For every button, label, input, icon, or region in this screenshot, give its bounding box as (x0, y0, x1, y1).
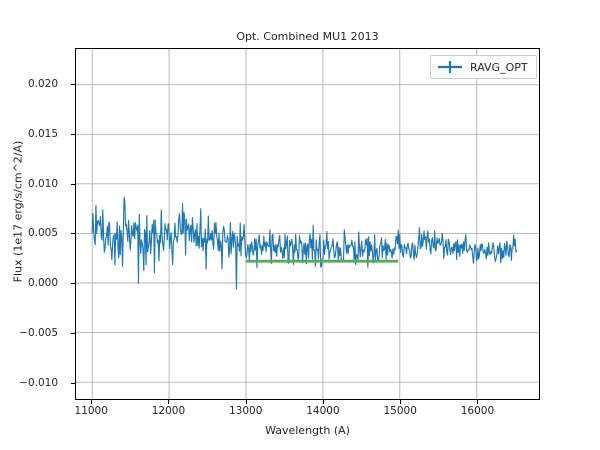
x-tick-label: 13000 (229, 405, 262, 417)
y-tick-mark-group (0, 48, 75, 400)
x-tick-label-group: 110001200013000140001500016000 (75, 400, 540, 422)
x-tick-label: 15000 (383, 405, 416, 417)
x-tick-label: 16000 (461, 405, 494, 417)
figure-canvas: Opt. Combined MU1 2013 Flux (1e17 erg/s/… (0, 0, 600, 450)
legend-marker-icon (437, 60, 463, 74)
x-tick-label: 11000 (75, 405, 108, 417)
x-tick-label: 12000 (152, 405, 185, 417)
x-axis-label: Wavelength (A) (75, 424, 540, 437)
fit-band-line (76, 49, 539, 399)
x-tick-label: 14000 (306, 405, 339, 417)
plot-area (75, 48, 540, 400)
legend-label-ravg-opt: RAVG_OPT (470, 61, 528, 74)
legend-box[interactable]: RAVG_OPT (430, 55, 537, 79)
chart-title: Opt. Combined MU1 2013 (75, 30, 540, 43)
